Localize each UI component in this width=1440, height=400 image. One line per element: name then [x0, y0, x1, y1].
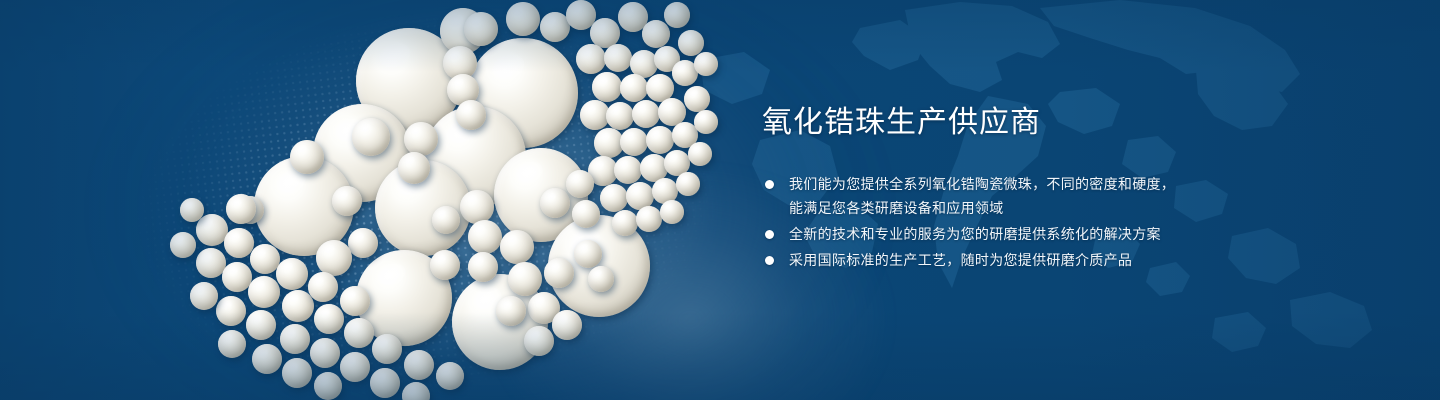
list-item: 采用国际标准的生产工艺，随时为您提供研磨介质产品	[762, 248, 1322, 272]
list-item-line: 全新的技术和专业的服务为您的研磨提供系统化的解决方案	[789, 226, 1161, 242]
bullet-dot-icon	[765, 180, 774, 189]
list-item-line: 我们能为您提供全系列氧化锆陶瓷微珠，不同的密度和硬度，	[789, 176, 1175, 192]
banner-copy: 氧化锆珠生产供应商 我们能为您提供全系列氧化锆陶瓷微珠，不同的密度和硬度， 能满…	[762, 104, 1322, 272]
banner-headline: 氧化锆珠生产供应商	[762, 104, 1322, 142]
list-item-line: 采用国际标准的生产工艺，随时为您提供研磨介质产品	[789, 252, 1132, 268]
feature-list: 我们能为您提供全系列氧化锆陶瓷微珠，不同的密度和硬度， 能满足您各类研磨设备和应…	[762, 172, 1322, 272]
bullet-dot-icon	[765, 256, 774, 265]
bullet-dot-icon	[765, 230, 774, 239]
list-item-line: 能满足您各类研磨设备和应用领域	[789, 200, 1004, 216]
list-item: 全新的技术和专业的服务为您的研磨提供系统化的解决方案	[762, 222, 1322, 246]
list-item: 我们能为您提供全系列氧化锆陶瓷微珠，不同的密度和硬度， 能满足您各类研磨设备和应…	[762, 172, 1322, 220]
hero-banner: 氧化锆珠生产供应商 我们能为您提供全系列氧化锆陶瓷微珠，不同的密度和硬度， 能满…	[0, 0, 1440, 400]
